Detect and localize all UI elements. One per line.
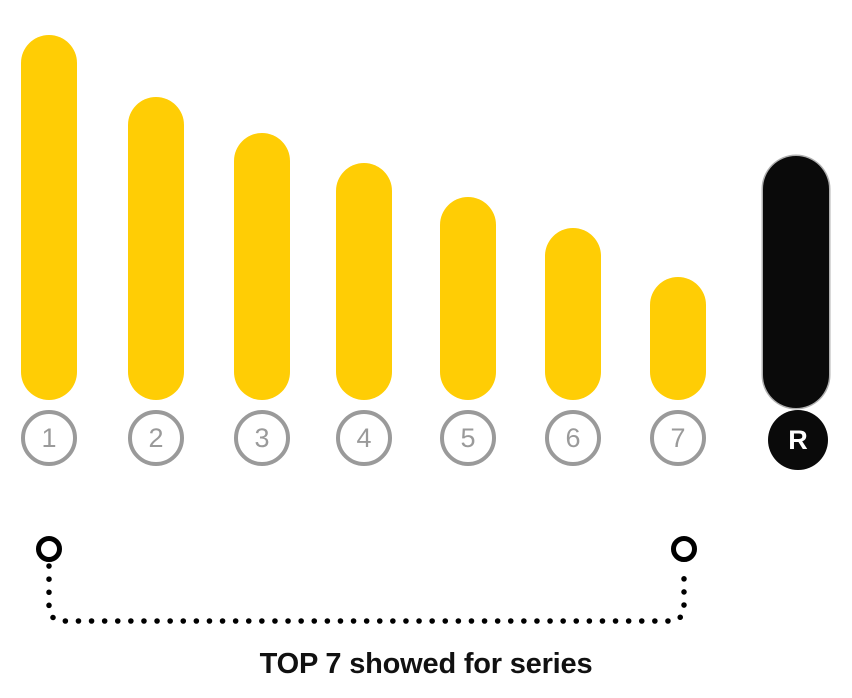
bar-3[interactable] — [234, 133, 290, 400]
axis-label-4[interactable]: 4 — [336, 410, 392, 466]
axis-label-2[interactable]: 2 — [128, 410, 184, 466]
bar-4[interactable] — [336, 163, 392, 400]
axis-label-r[interactable]: R — [768, 410, 828, 470]
range-bracket — [0, 500, 852, 650]
axis-label-3[interactable]: 3 — [234, 410, 290, 466]
bar-r-highlight[interactable] — [763, 156, 829, 408]
bars-container — [0, 0, 852, 400]
bracket-left-marker-icon[interactable] — [39, 539, 60, 560]
chart-caption: TOP 7 showed for series — [0, 648, 852, 681]
bar-7[interactable] — [650, 277, 706, 400]
bar-6[interactable] — [545, 228, 601, 400]
axis-labels-container: 1 2 3 4 5 6 7 R — [0, 410, 852, 474]
axis-label-6[interactable]: 6 — [545, 410, 601, 466]
axis-label-1[interactable]: 1 — [21, 410, 77, 466]
axis-label-5[interactable]: 5 — [440, 410, 496, 466]
axis-label-7[interactable]: 7 — [650, 410, 706, 466]
bar-2[interactable] — [128, 97, 184, 400]
bracket-dotted-path — [49, 566, 684, 621]
bar-chart: 1 2 3 4 5 6 7 R TOP 7 showed for series — [0, 0, 852, 698]
bracket-right-marker-icon[interactable] — [674, 539, 695, 560]
bracket-svg — [0, 500, 852, 650]
bar-1[interactable] — [21, 35, 77, 400]
bar-5[interactable] — [440, 197, 496, 400]
